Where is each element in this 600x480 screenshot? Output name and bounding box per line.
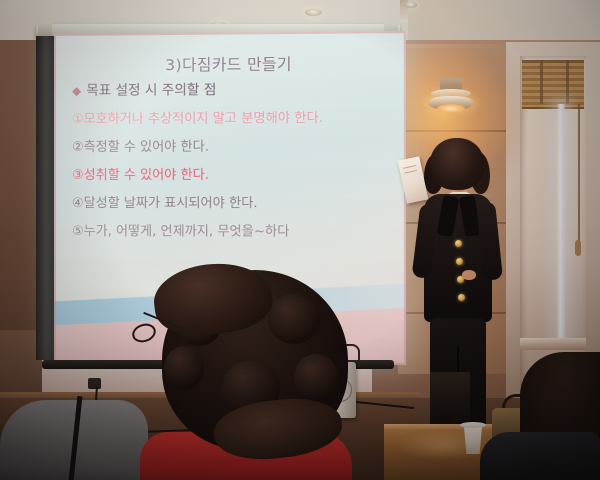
window-blind [522, 60, 584, 109]
slide-header-line: ◆목표 설정 시 주의할 점 [72, 82, 398, 98]
slide-body: ◆목표 설정 시 주의할 점 ①모호하거나 추상적이지 말고 분명해야 한다. … [72, 82, 398, 254]
ceiling-downlight [404, 2, 417, 8]
blind-strap [540, 60, 543, 104]
slide-bullet-4: ④달성할 날짜가 표시되어야 한다. [72, 197, 398, 211]
presenter-jacket-button [458, 294, 465, 301]
presenter-hand-right [462, 270, 476, 280]
blind-cord-grip [575, 240, 581, 256]
slide-bullet-1: ①모호하거나 추상적이지 말고 분명해야 한다. [72, 111, 398, 126]
paper-line [404, 170, 417, 174]
slide-text-2: 측정할 수 있어야 한다. [84, 139, 209, 154]
sconce-bulb-glow [437, 104, 465, 113]
slide-marker-3: ③ [72, 168, 84, 183]
power-outlet [88, 378, 101, 389]
slide-header-text: 목표 설정 시 주의할 점 [86, 82, 216, 99]
presenter-jacket-button [456, 258, 463, 265]
slide-bullet-3: ③성취할 수 있어야 한다. [72, 168, 398, 182]
paper-cup-rim [460, 422, 486, 428]
slide-text-4: 달성할 날짜가 표시되어야 한다. [84, 196, 258, 211]
presenter-papers [398, 156, 429, 204]
window-sill [520, 338, 586, 350]
slide-marker-4: ④ [72, 196, 84, 211]
slide-marker-1: ① [72, 112, 84, 127]
diamond-bullet-icon: ◆ [72, 84, 81, 98]
slide-bullet-2: ②측정할 수 있어야 한다. [72, 140, 398, 155]
attendee-right-body [480, 432, 600, 480]
blind-cord [578, 104, 580, 244]
attendee-hair-curl [294, 354, 338, 402]
foreground-attendee [118, 268, 378, 480]
presenter-jacket-button [455, 240, 462, 247]
blind-strap [566, 60, 569, 104]
slide-bullet-5: ⑤누가, 어떻게, 언제까지, 무엇을~하다 [72, 225, 398, 239]
ceiling-downlight [305, 9, 322, 16]
slide-marker-2: ② [72, 140, 84, 155]
screen-side-edge [36, 36, 54, 360]
slide-marker-5: ⑤ [72, 224, 84, 239]
beret-bow [130, 321, 158, 346]
paper-line [403, 165, 416, 169]
attendee-hair-curl [268, 294, 320, 344]
window-glass [556, 104, 567, 342]
presenter-hair [430, 138, 484, 190]
slide-text-1: 모호하거나 추상적이지 말고 분명해야 한다. [84, 110, 323, 126]
slide-text-3: 성취할 수 있어야 한다. [84, 168, 209, 183]
attendee-hair-curl [164, 346, 204, 390]
slide-text-5: 누가, 어떻게, 언제까지, 무엇을~하다 [84, 224, 290, 239]
slide-title: 3)다짐카드 만들기 [54, 51, 406, 76]
photo-scene: 3)다짐카드 만들기 ◆목표 설정 시 주의할 점 ①모호하거나 추상적이지 말… [0, 0, 600, 480]
